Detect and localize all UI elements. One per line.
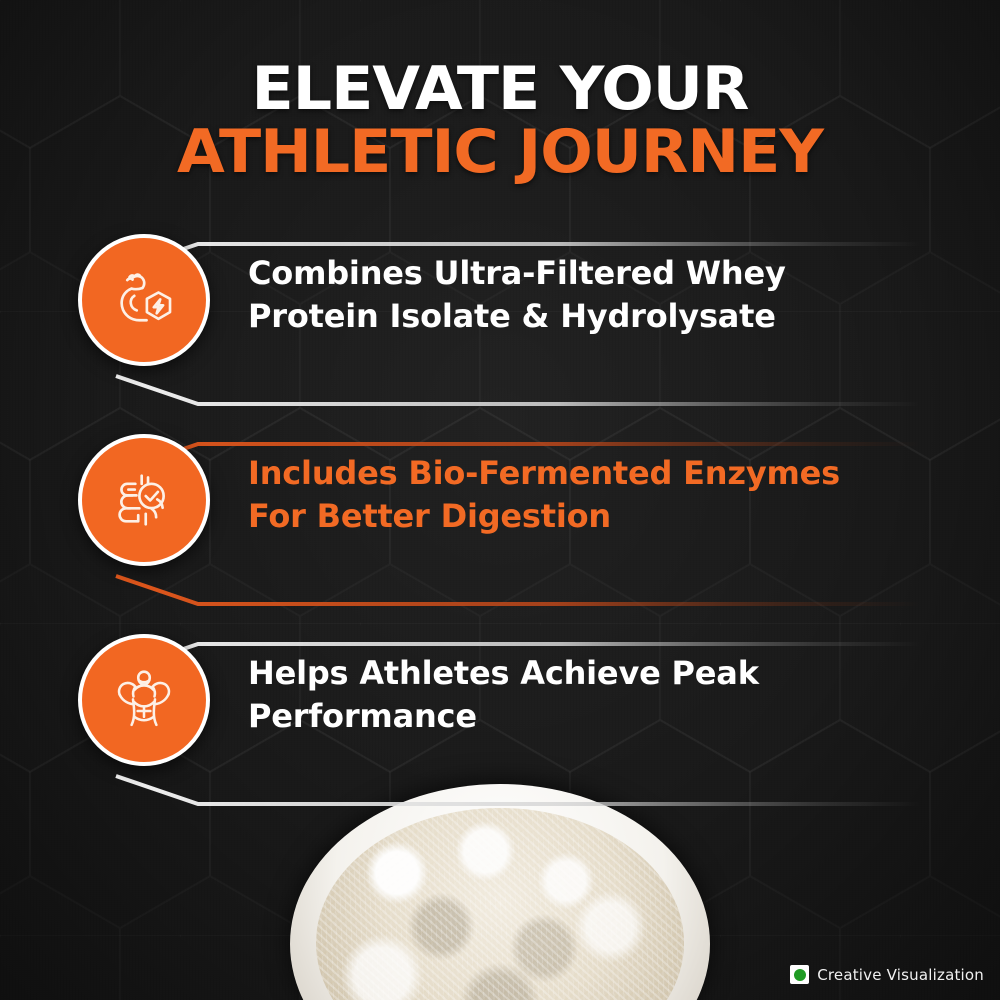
feature-text-2: Includes Bio-Fermented Enzymes For Bette… — [248, 452, 908, 538]
headline-line-1: ELEVATE YOUR — [0, 62, 1000, 117]
feature-icon-3 — [78, 634, 210, 766]
green-dot-icon — [794, 969, 806, 981]
feature-icon-1 — [78, 234, 210, 366]
feature-row-3: Helps Athletes Achieve Peak Performance — [0, 628, 1000, 828]
feature-list: Combines Ultra-Filtered Whey Protein Iso… — [0, 228, 1000, 828]
feature-text-1: Combines Ultra-Filtered Whey Protein Iso… — [248, 252, 908, 338]
feature-row-2: Includes Bio-Fermented Enzymes For Bette… — [0, 428, 1000, 628]
headline-line-2: ATHLETIC JOURNEY — [0, 125, 1000, 180]
feature-row-1: Combines Ultra-Filtered Whey Protein Iso… — [0, 228, 1000, 428]
creative-visualization-watermark: Creative Visualization — [790, 965, 984, 984]
watermark-label: Creative Visualization — [817, 966, 984, 984]
watermark-swatch-icon — [790, 965, 809, 984]
feature-text-3: Helps Athletes Achieve Peak Performance — [248, 652, 908, 738]
headline-block: ELEVATE YOUR ATHLETIC JOURNEY — [0, 62, 1000, 180]
feature-icon-2 — [78, 434, 210, 566]
product-infographic-poster: ELEVATE YOUR ATHLETIC JOURNEY — [0, 0, 1000, 1000]
